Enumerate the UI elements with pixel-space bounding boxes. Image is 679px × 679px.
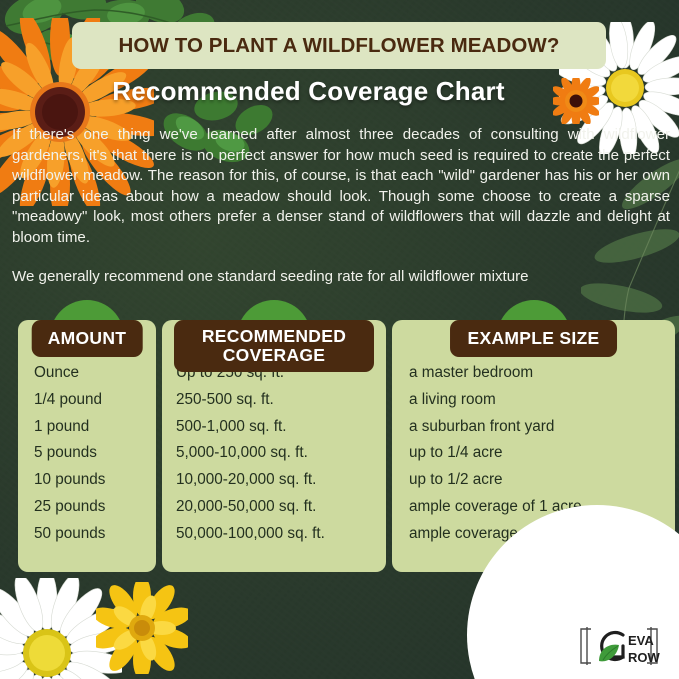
- table-column-coverage: Up to 250 sq. ft. 250-500 sq. ft. 500-1,…: [162, 320, 386, 572]
- table-row: 50,000-100,000 sq. ft.: [162, 521, 386, 548]
- table-row: 250-500 sq. ft.: [162, 387, 386, 414]
- page-title: HOW TO PLANT A WILDFLOWER MEADOW?: [119, 34, 560, 58]
- table-row: up to 1/4 acre: [392, 440, 675, 467]
- intro-paragraph: If there's one thing we've learned after…: [12, 125, 670, 249]
- table-row: 10 pounds: [18, 467, 156, 494]
- infographic-canvas: HOW TO PLANT A WILDFLOWER MEADOW? Recomm…: [0, 0, 679, 679]
- page-subtitle: Recommended Coverage Chart: [112, 76, 504, 107]
- table-row: up to 1/2 acre: [392, 467, 675, 494]
- table-row: a suburban front yard: [392, 414, 675, 441]
- column-header-amount: AMOUNT: [32, 320, 143, 357]
- table-row: 50 pounds: [18, 521, 156, 548]
- column-header-example: EXAMPLE SIZE: [450, 320, 618, 357]
- table-row: 5,000-10,000 sq. ft.: [162, 440, 386, 467]
- logo-text-line2: ROW: [628, 650, 661, 665]
- table-row: a living room: [392, 387, 675, 414]
- table-row: 10,000-20,000 sq. ft.: [162, 467, 386, 494]
- table-row: a master bedroom: [392, 360, 675, 387]
- table-row: 5 pounds: [18, 440, 156, 467]
- body-copy: If there's one thing we've learned after…: [12, 125, 670, 287]
- table-row: 1/4 pound: [18, 387, 156, 414]
- table-row: Ounce: [18, 360, 156, 387]
- logo-text-line1: EVA: [628, 633, 654, 648]
- cell-list-coverage: Up to 250 sq. ft. 250-500 sq. ft. 500-1,…: [162, 360, 386, 548]
- table-row: 25 pounds: [18, 494, 156, 521]
- column-header-coverage: RECOMMENDED COVERAGE: [174, 320, 374, 372]
- table-column-amount: Ounce 1/4 pound 1 pound 5 pounds 10 poun…: [18, 320, 156, 572]
- table-panel-amount: Ounce 1/4 pound 1 pound 5 pounds 10 poun…: [18, 320, 156, 572]
- title-banner: HOW TO PLANT A WILDFLOWER MEADOW?: [72, 22, 606, 69]
- recommendation-note: We generally recommend one standard seed…: [12, 267, 670, 288]
- table-row: 20,000-50,000 sq. ft.: [162, 494, 386, 521]
- cell-list-amount: Ounce 1/4 pound 1 pound 5 pounds 10 poun…: [18, 360, 156, 548]
- table-row: 1 pound: [18, 414, 156, 441]
- eva-grow-logo: EVA ROW: [573, 621, 665, 671]
- subtitle-row: Recommended Coverage Chart: [0, 76, 679, 107]
- table-row: 500-1,000 sq. ft.: [162, 414, 386, 441]
